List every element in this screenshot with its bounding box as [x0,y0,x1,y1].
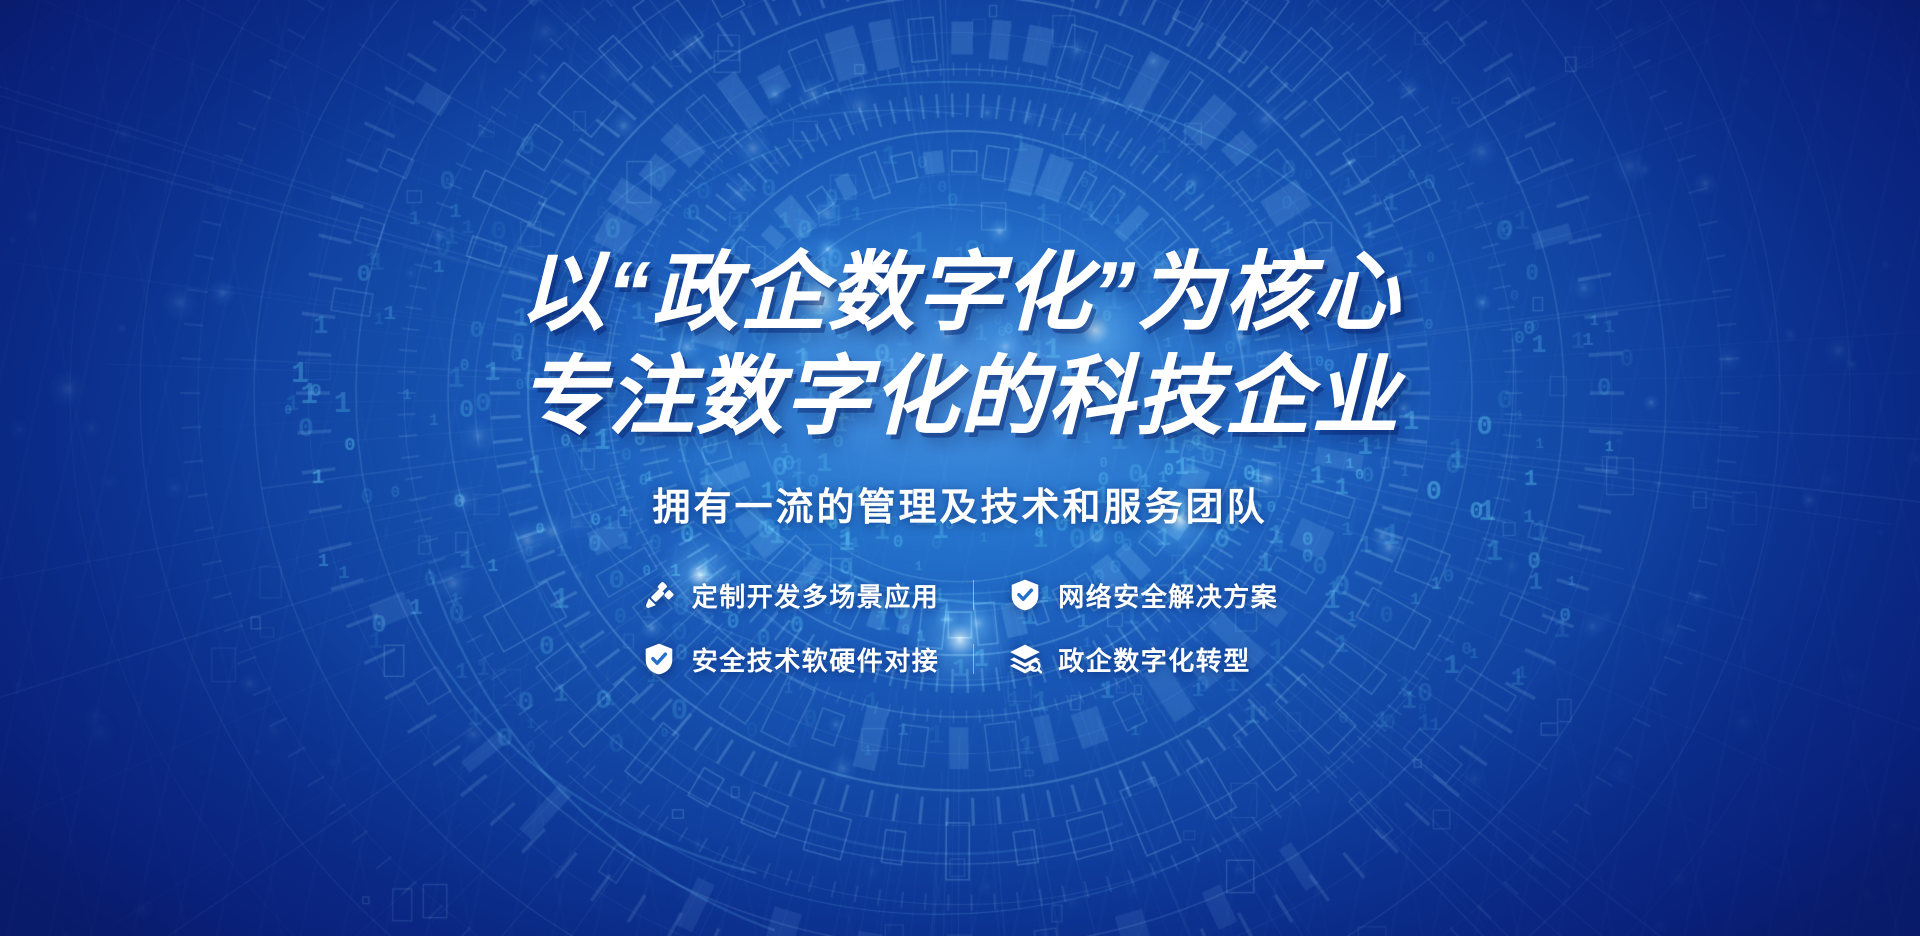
feature-label: 网络安全解决方案 [1058,577,1278,614]
banner-content: 以“政企数字化”为核心 专注数字化的科技企业 拥有一流的管理及技术和服务团队 [0,0,1920,936]
layers-search-icon [1008,642,1042,676]
banner-subtitle: 拥有一流的管理及技术和服务团队 [652,476,1267,531]
feature-item-network-security[interactable]: 网络安全解决方案 [974,567,1278,623]
feature-label: 定制开发多场景应用 [692,577,940,614]
feature-label: 安全技术软硬件对接 [692,641,940,678]
headline-line-1: 以“政企数字化”为核心 [519,250,1401,336]
pencil-edit-icon [642,578,676,612]
hero-banner: 以“政企数字化”为核心 专注数字化的科技企业 拥有一流的管理及技术和服务团队 [0,0,1920,936]
feature-list: 定制开发多场景应用 网络安全解决方案 [642,567,1279,687]
feature-item-security-integration[interactable]: 安全技术软硬件对接 [642,631,974,687]
feature-item-custom-development[interactable]: 定制开发多场景应用 [642,567,974,623]
shield-check-icon [1008,578,1042,612]
feature-label: 政企数字化转型 [1058,641,1251,678]
shield-check-icon [642,642,676,676]
feature-item-digital-transformation[interactable]: 政企数字化转型 [974,631,1278,687]
headline-line-2: 专注数字化的科技企业 [520,354,1400,440]
